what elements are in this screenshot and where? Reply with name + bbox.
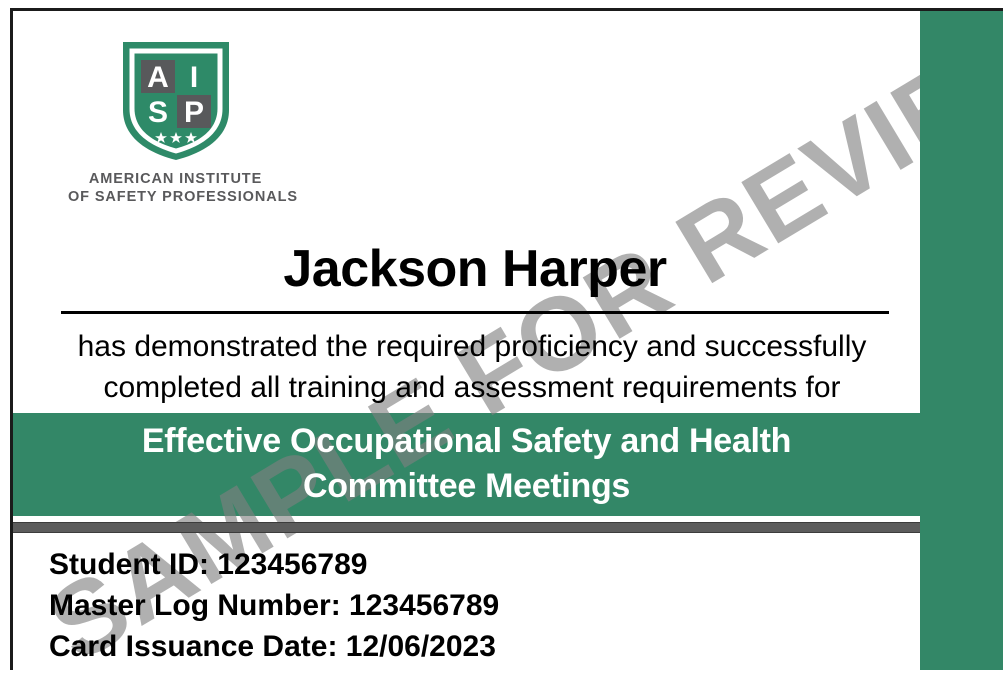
certificate-details: Student ID: 123456789 Master Log Number:… [49,544,749,667]
svg-text:S: S [147,96,167,129]
svg-text:A: A [147,61,169,94]
aisp-shield-icon: A I S P [117,36,235,164]
certificate-card: SAMPLE FOR REVIEW A I S P [0,0,1008,675]
detail-row-master-log-number: Master Log Number: 123456789 [49,585,749,626]
achievement-statement: has demonstrated the required proficienc… [27,326,917,408]
wordmark-line-1: AMERICAN INSTITUTE [68,170,283,188]
detail-row-student-id: Student ID: 123456789 [49,544,749,585]
statement-line-2: completed all training and assessment re… [27,367,917,408]
wordmark-line-2: OF SAFETY PROFESSIONALS [68,188,283,206]
name-underline-rule [61,311,889,314]
course-title-line-2: Committee Meetings [13,464,920,509]
organization-logo: A I S P AMERICAN INSTITUTE OF SAFETY PRO… [68,36,283,206]
certificate-card-inner-border: SAMPLE FOR REVIEW A I S P [10,8,1008,675]
divider-bar [13,522,920,533]
statement-line-1: has demonstrated the required proficienc… [27,326,917,367]
svg-text:I: I [189,61,197,94]
course-title: Effective Occupational Safety and Health… [13,419,920,509]
svg-text:P: P [183,96,203,129]
recipient-name: Jackson Harper [61,239,889,299]
detail-row-card-issuance-date: Card Issuance Date: 12/06/2023 [49,626,749,667]
course-title-line-1: Effective Occupational Safety and Health [13,419,920,464]
right-green-strip [920,11,1008,673]
organization-wordmark: AMERICAN INSTITUTE OF SAFETY PROFESSIONA… [68,170,283,206]
